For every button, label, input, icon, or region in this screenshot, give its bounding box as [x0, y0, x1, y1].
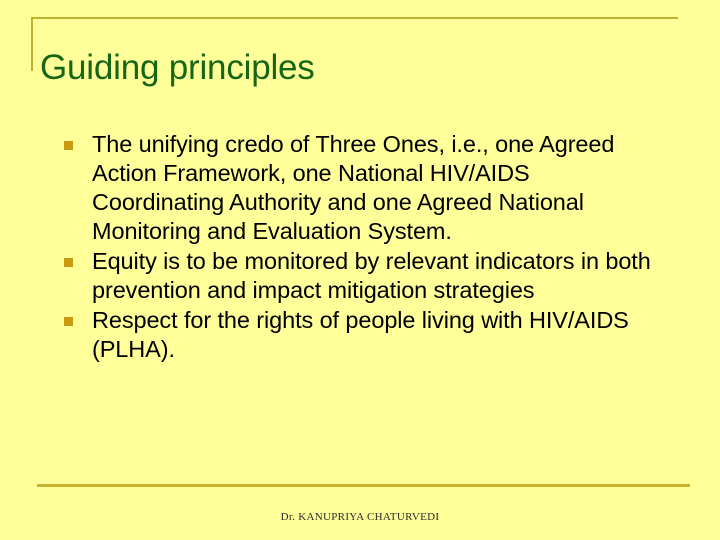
list-item-text: Equity is to be monitored by relevant in… — [92, 247, 660, 305]
list-item: Equity is to be monitored by relevant in… — [60, 247, 660, 305]
square-bullet-icon — [64, 317, 73, 326]
page-title: Guiding principles — [40, 47, 670, 89]
slide-canvas: Guiding principles The unifying credo of… — [0, 0, 720, 540]
square-bullet-icon — [64, 258, 73, 267]
footer-author: Dr. KANUPRIYA CHATURVEDI — [0, 511, 720, 523]
list-item-text: The unifying credo of Three Ones, i.e., … — [92, 130, 660, 246]
list-item: Respect for the rights of people living … — [60, 306, 660, 364]
list-item-text: Respect for the rights of people living … — [92, 306, 660, 364]
title-top-rule — [31, 17, 678, 19]
bullet-list: The unifying credo of Three Ones, i.e., … — [60, 130, 660, 365]
footer-divider — [37, 484, 690, 487]
square-bullet-icon — [64, 141, 73, 150]
title-left-rule — [31, 17, 33, 71]
list-item: The unifying credo of Three Ones, i.e., … — [60, 130, 660, 246]
